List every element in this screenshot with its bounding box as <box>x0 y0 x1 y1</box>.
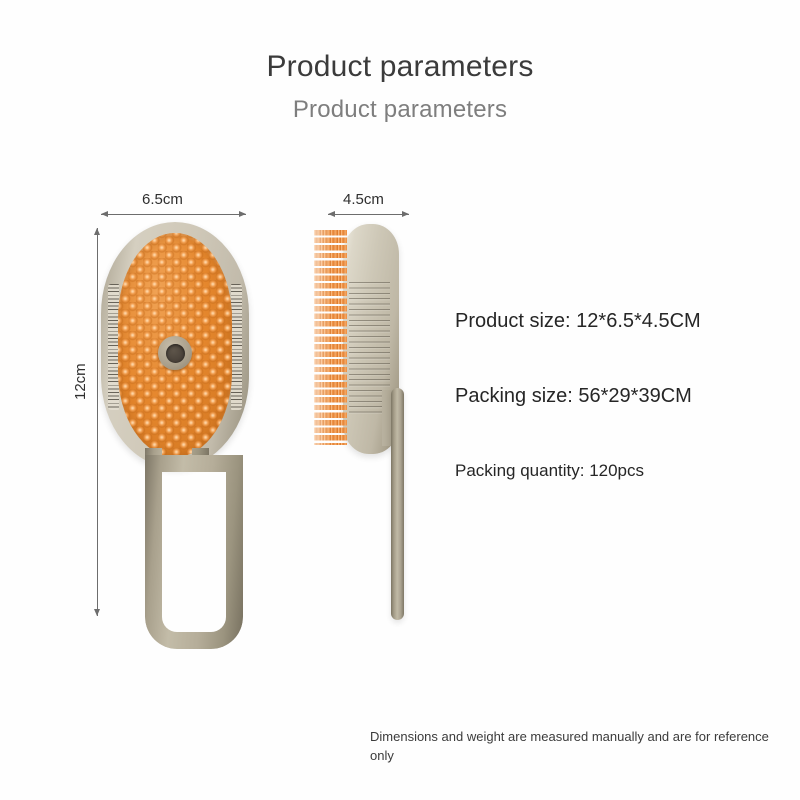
width-arrow-side <box>328 214 409 215</box>
page-title: Product parameters <box>0 50 800 84</box>
page-subtitle: Product parameters <box>0 96 800 124</box>
center-hole <box>166 344 185 363</box>
width-arrow-front <box>101 214 246 215</box>
disclaimer-text: Dimensions and weight are measured manua… <box>370 728 790 766</box>
center-hole-ring <box>158 336 192 370</box>
spec-packing-size: Packing size: 56*29*39CM <box>455 385 692 408</box>
dimension-label-front-width: 6.5cm <box>142 191 183 208</box>
dimension-label-front-height: 12cm <box>72 363 89 400</box>
spec-packing-quantity: Packing quantity: 120pcs <box>455 461 644 481</box>
comb-teeth-right <box>231 284 242 410</box>
dimension-label-side-width: 4.5cm <box>343 191 384 208</box>
height-arrow-front <box>97 228 98 616</box>
product-parameters-page: Product parameters Product parameters 6.… <box>0 0 800 800</box>
side-handle-bar <box>391 388 404 620</box>
side-bristles <box>314 230 347 445</box>
product-front-view <box>101 222 249 468</box>
spec-product-size: Product size: 12*6.5*4.5CM <box>455 310 701 333</box>
front-handle-loop <box>145 455 243 649</box>
